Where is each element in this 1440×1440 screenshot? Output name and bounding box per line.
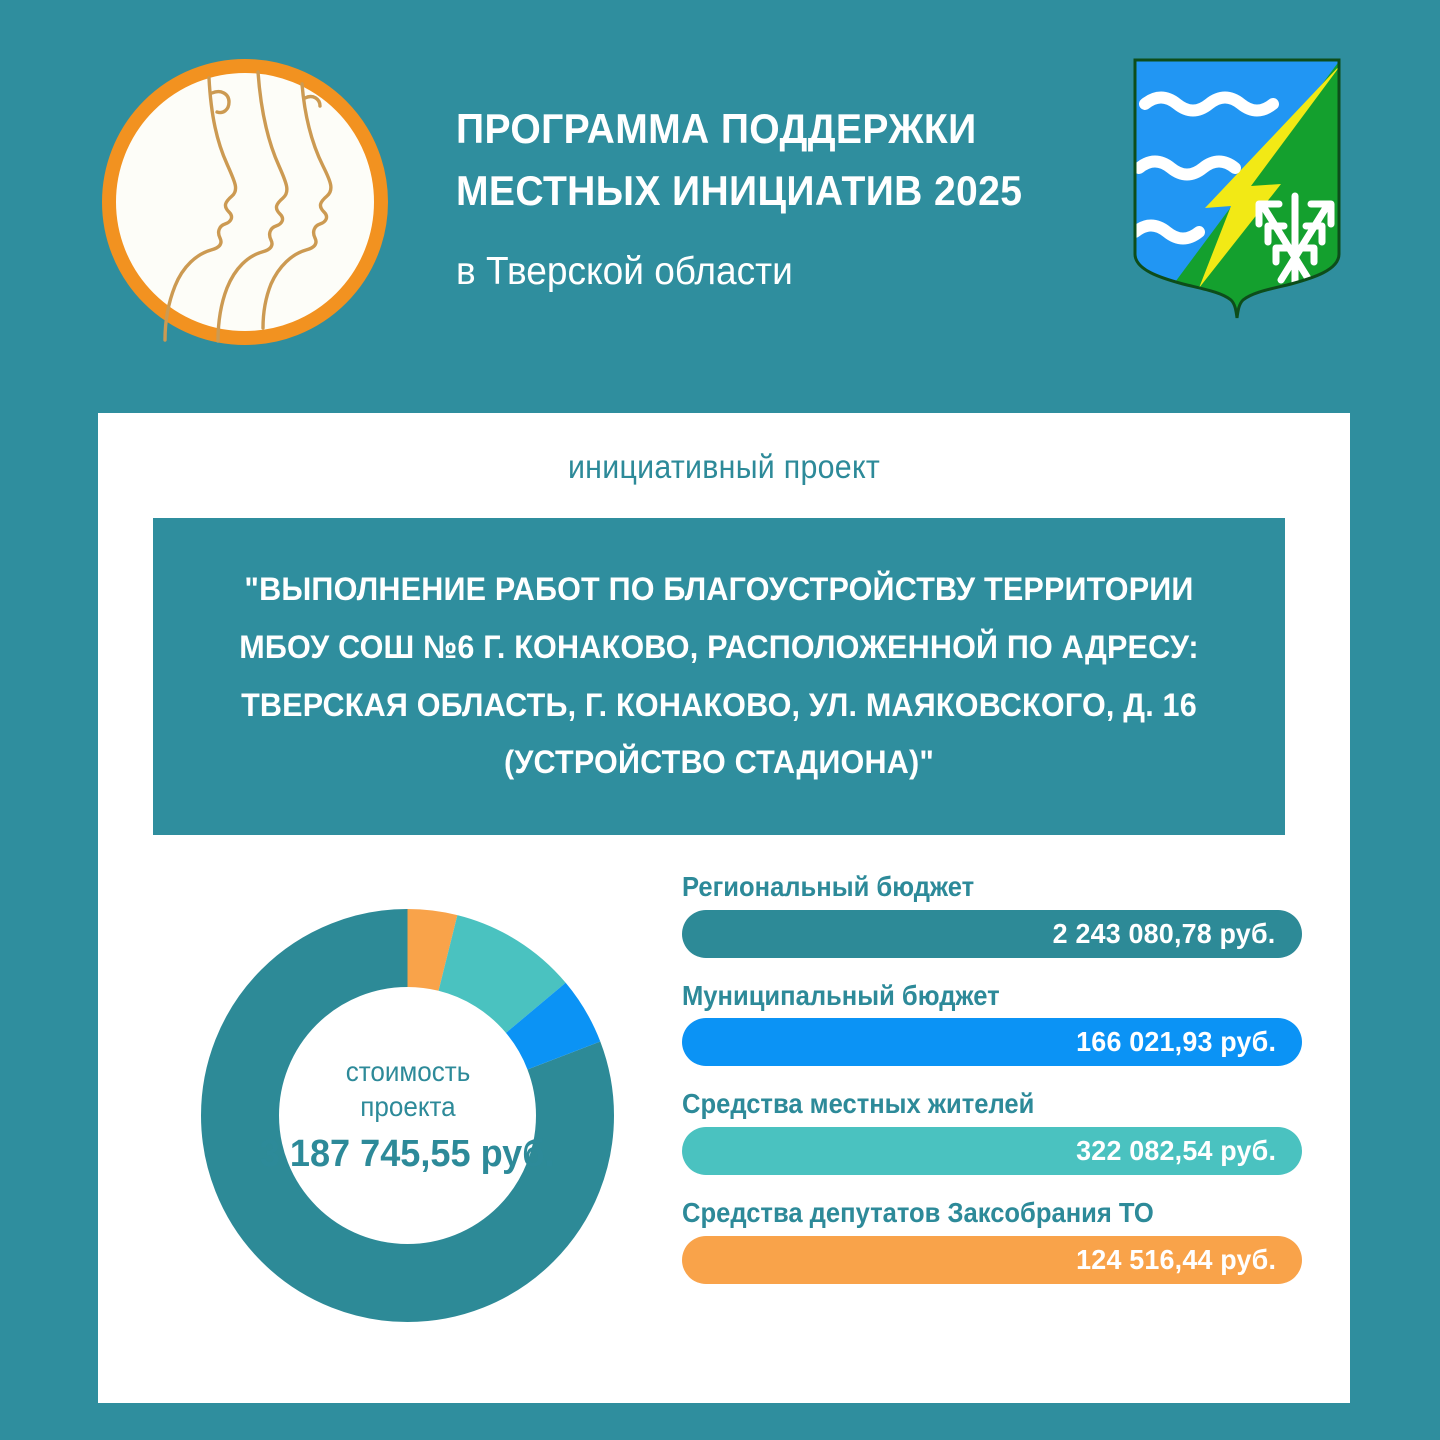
bar-label-municipal: Муниципальный бюджет (682, 980, 1259, 1012)
bar-value-regional: 2 243 080,78 руб. (1053, 918, 1276, 950)
bar-group-deputies: Средства депутатов Заксобрания ТО 124 51… (682, 1197, 1302, 1284)
bar-label-deputies: Средства депутатов Заксобрания ТО (682, 1197, 1259, 1229)
bar-value-residents: 322 082,54 руб. (1076, 1135, 1276, 1167)
header-subtitle: в Тверской области (456, 249, 1064, 296)
header-title-line-1: ПРОГРАММА ПОДДЕРЖКИ (456, 98, 1051, 160)
infographic-page: ПРОГРАММА ПОДДЕРЖКИ МЕСТНЫХ ИНИЦИАТИВ 20… (0, 0, 1440, 1440)
card-kicker: инициативный проект (148, 448, 1300, 486)
bar-regional: 2 243 080,78 руб. (682, 910, 1302, 958)
bar-residents: 322 082,54 руб. (682, 1127, 1302, 1175)
budget-donut-chart: стоимость проекта 3 187 745,55 руб. (180, 888, 635, 1343)
bar-group-residents: Средства местных жителей 322 082,54 руб. (682, 1088, 1302, 1175)
project-title: "ВЫПОЛНЕНИЕ РАБОТ ПО БЛАГОУСТРОЙСТВУ ТЕР… (187, 561, 1251, 791)
project-card: инициативный проект "ВЫПОЛНЕНИЕ РАБОТ ПО… (98, 413, 1350, 1403)
bar-value-municipal: 166 021,93 руб. (1076, 1026, 1276, 1058)
bar-deputies: 124 516,44 руб. (682, 1236, 1302, 1284)
bar-label-residents: Средства местных жителей (682, 1088, 1259, 1120)
bar-group-regional: Региональный бюджет 2 243 080,78 руб. (682, 871, 1302, 958)
three-profiles-circle-logo (99, 56, 391, 348)
project-title-box: "ВЫПОЛНЕНИЕ РАБОТ ПО БЛАГОУСТРОЙСТВУ ТЕР… (153, 518, 1285, 835)
konakovo-coat-of-arms-icon (1131, 56, 1343, 328)
header-titles: ПРОГРАММА ПОДДЕРЖКИ МЕСТНЫХ ИНИЦИАТИВ 20… (456, 98, 1096, 296)
header-title-line-2: МЕСТНЫХ ИНИЦИАТИВ 2025 (456, 160, 1051, 222)
budget-bars-legend: Региональный бюджет 2 243 080,78 руб. Му… (682, 871, 1302, 1284)
bar-group-municipal: Муниципальный бюджет 166 021,93 руб. (682, 980, 1302, 1067)
bar-label-regional: Региональный бюджет (682, 871, 1259, 903)
bar-municipal: 166 021,93 руб. (682, 1018, 1302, 1066)
header: ПРОГРАММА ПОДДЕРЖКИ МЕСТНЫХ ИНИЦИАТИВ 20… (0, 0, 1440, 413)
bar-value-deputies: 124 516,44 руб. (1076, 1244, 1276, 1276)
